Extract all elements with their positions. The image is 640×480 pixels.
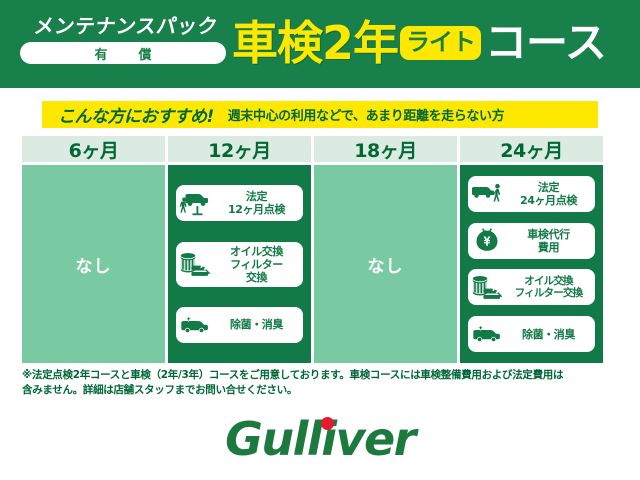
column-body-3: 法定24ヶ月点検 車検代行費用 オイル交換フィルター交換 除菌・消臭 <box>460 165 603 363</box>
column-header-3: 24ヶ月 <box>460 136 603 162</box>
service-card-label: 法定12ヶ月点検 <box>212 190 301 216</box>
service-card-line: 車検代行 <box>504 228 593 241</box>
service-card[interactable]: 法定12ヶ月点検 <box>176 185 303 221</box>
footnote-line-2: 含みません。詳細は店舗スタッフまでお問い合せください。 <box>22 383 622 398</box>
oil-filter-can-icon <box>178 249 212 279</box>
header-banner: メンテナンスパック 有 償 車検2年 ライト コース <box>0 0 640 88</box>
service-card-line: オイル交換 <box>212 245 301 258</box>
service-card[interactable]: オイル交換フィルター交換 <box>468 269 595 305</box>
service-card-line: 除菌・消臭 <box>212 318 301 331</box>
service-card-line: 法定 <box>212 190 301 203</box>
service-card-line: 24ヶ月点検 <box>504 194 593 207</box>
column-header-1: 12ヶ月 <box>168 136 311 162</box>
service-card-line: 交換 <box>212 271 301 284</box>
service-grid: 6ヶ月なし12ヶ月 法定12ヶ月点検 オイル交換フィルター交換 <box>22 136 618 363</box>
oil-filter-can-icon <box>470 272 504 302</box>
service-column: 18ヶ月なし <box>314 136 457 363</box>
car-lift-inspection-icon <box>178 188 212 218</box>
recommend-description: 週末中心の利用などで、あまり距離を走らない方 <box>228 105 504 124</box>
car-inspection-person-icon <box>470 179 504 209</box>
service-card-label: 除菌・消臭 <box>504 328 593 341</box>
brand-logo-text: Gulliver <box>225 414 415 464</box>
service-card-line: フィルター交換 <box>504 287 593 300</box>
service-card[interactable]: 除菌・消臭 <box>468 316 595 352</box>
maintenance-pack-flyer: メンテナンスパック 有 償 車検2年 ライト コース こんな方におすすめ! 週末… <box>0 0 640 480</box>
column-header-2: 18ヶ月 <box>314 136 457 162</box>
service-column: 12ヶ月 法定12ヶ月点検 オイル交換フィルター交換 <box>168 136 311 363</box>
service-card-line: 12ヶ月点検 <box>212 203 301 216</box>
service-card-line: フィルター <box>212 258 301 271</box>
service-card[interactable]: 除菌・消臭 <box>176 307 303 343</box>
paid-pill-label: 有 償 <box>85 44 160 63</box>
footnote-line-1: ※法定点検2年コースと車検（2年/3年）コースをご用意しております。車検コースに… <box>22 368 622 383</box>
money-bag-yen-icon <box>470 226 504 256</box>
recommend-headline: こんな方におすすめ! <box>58 102 214 127</box>
column-body-2: なし <box>314 165 457 363</box>
service-card-label: オイル交換フィルター交換 <box>212 245 301 284</box>
service-card[interactable]: 車検代行費用 <box>468 223 595 259</box>
recommend-banner: こんな方におすすめ! 週末中心の利用などで、あまり距離を走らない方 <box>42 101 598 128</box>
car-sanitize-icon <box>470 319 504 349</box>
service-card-line: 除菌・消臭 <box>504 328 593 341</box>
service-card-label: 法定24ヶ月点検 <box>504 181 593 207</box>
main-title: 車検2年 <box>232 18 398 68</box>
light-badge: ライト <box>400 26 481 60</box>
course-label: コース <box>485 19 606 67</box>
header-left-block: メンテナンスパック 有 償 <box>20 14 232 76</box>
column-body-0: なし <box>22 165 165 363</box>
no-service-label: なし <box>368 252 404 277</box>
service-column: 24ヶ月 法定24ヶ月点検 車検代行費用 オイル交換フィルター交換 <box>460 136 603 363</box>
service-card-label: 車検代行費用 <box>504 228 593 254</box>
column-header-0: 6ヶ月 <box>22 136 165 162</box>
maintenance-pack-title: メンテナンスパック <box>18 14 233 38</box>
column-body-1: 法定12ヶ月点検 オイル交換フィルター交換 除菌・消臭 <box>168 165 311 363</box>
brand-logo: Gulliver <box>0 412 640 466</box>
no-service-label: なし <box>76 252 112 277</box>
service-card-line: 法定 <box>504 181 593 194</box>
service-card-label: オイル交換フィルター交換 <box>504 275 593 300</box>
service-card[interactable]: 法定24ヶ月点検 <box>468 176 595 212</box>
service-card-label: 除菌・消臭 <box>212 318 301 331</box>
service-column: 6ヶ月なし <box>22 136 165 363</box>
car-sanitize-icon <box>178 310 212 340</box>
footnote: ※法定点検2年コースと車検（2年/3年）コースをご用意しております。車検コースに… <box>22 368 622 398</box>
service-card-line: オイル交換 <box>504 275 593 288</box>
header-right-block: 車検2年 ライト コース <box>232 12 606 74</box>
service-card[interactable]: オイル交換フィルター交換 <box>176 242 303 287</box>
paid-pill: 有 償 <box>20 42 226 64</box>
service-card-line: 費用 <box>504 241 593 254</box>
